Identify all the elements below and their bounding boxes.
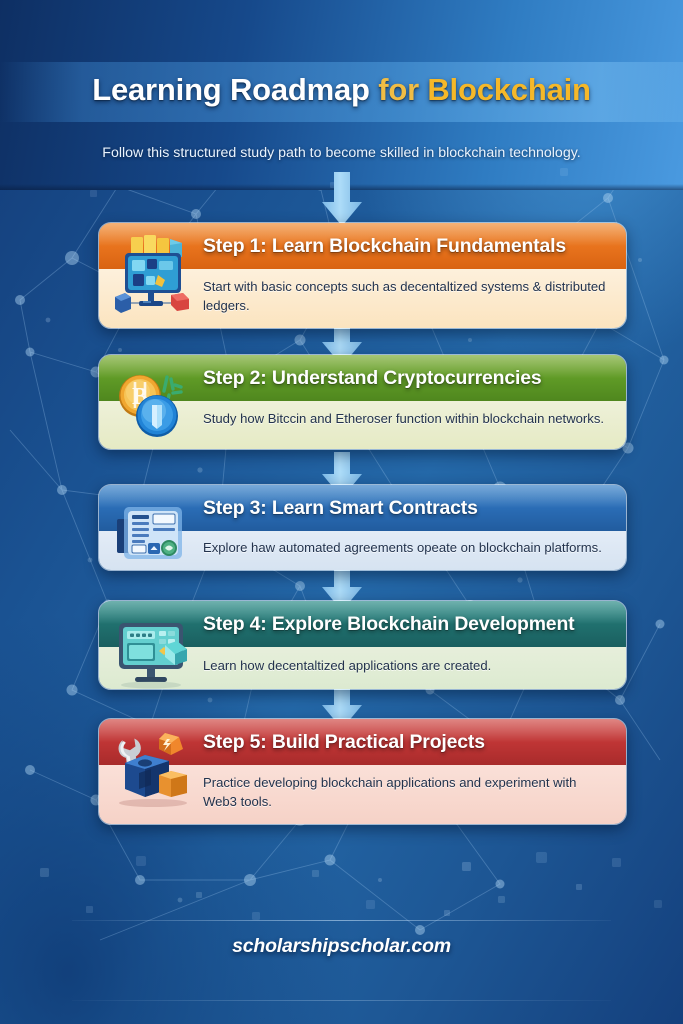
step-card-5-description: Practice developing blockchain applicati… [203,774,610,812]
step-card-1[interactable]: Step 1: Learn Blockchain Fundamentals St… [98,222,627,329]
step-card-1-header: Step 1: Learn Blockchain Fundamentals [99,223,626,269]
step-card-3[interactable]: Step 3: Learn Smart Contracts Explore ha… [98,484,627,571]
step-card-2[interactable]: Step 2: Understand Cryptocurrencies Stud… [98,354,627,450]
step-card-4-description: Learn how decentaltized applications are… [203,657,610,676]
step-card-3-header: Step 3: Learn Smart Contracts [99,485,626,531]
step-card-1-description: Start with basic concepts such as decent… [203,278,610,316]
step-card-5-body: Practice developing blockchain applicati… [99,765,626,824]
step-card-4-title: Step 4: Explore Blockchain Development [99,613,574,636]
step-card-3-description: Explore haw automated agreements opeate … [203,539,610,558]
step-card-4-body: Learn how decentaltized applications are… [99,647,626,689]
page-title-accent: Blockchain [427,72,590,107]
page-title: Learning Roadmap for Blockchain [0,72,683,108]
step-card-1-title: Step 1: Learn Blockchain Fundamentals [99,235,566,258]
step-card-2-header: Step 2: Understand Cryptocurrencies [99,355,626,401]
step-card-5[interactable]: Step 5: Build Practical Projects Practic… [98,718,627,825]
step-card-1-body: Start with basic concepts such as decent… [99,269,626,328]
step-card-3-body: Explore haw automated agreements opeate … [99,531,626,570]
page-title-for: for [378,72,419,107]
step-card-4[interactable]: Step 4: Explore Blockchain Development L… [98,600,627,690]
footer-divider [72,920,611,921]
step-card-2-description: Study how Bitccin and Etheroser function… [203,410,610,429]
step-card-5-header: Step 5: Build Practical Projects [99,719,626,765]
step-card-5-title: Step 5: Build Practical Projects [99,731,485,754]
infographic-poster: Learning Roadmap for Blockchain Follow t… [0,0,683,1024]
page-title-main: Learning Roadmap [92,72,370,107]
step-card-2-title: Step 2: Understand Cryptocurrencies [99,367,541,390]
page-subtitle: Follow this structured study path to bec… [0,145,683,161]
step-card-4-header: Step 4: Explore Blockchain Development [99,601,626,647]
footer-divider-bottom [72,1000,611,1001]
footer-url: scholarshipscholar.com [0,935,683,958]
step-card-2-body: Study how Bitccin and Etheroser function… [99,401,626,449]
step-card-3-title: Step 3: Learn Smart Contracts [99,497,478,520]
